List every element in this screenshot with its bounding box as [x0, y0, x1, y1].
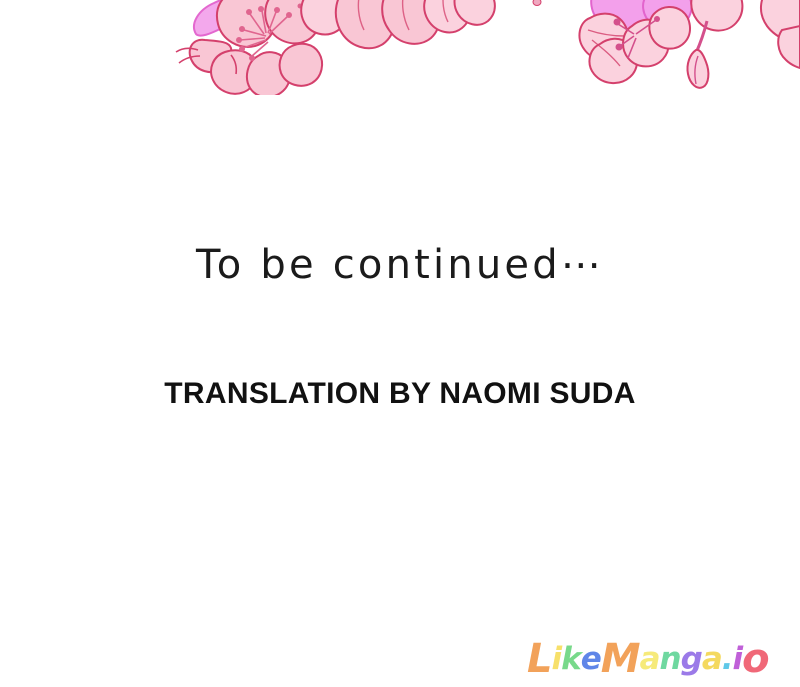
watermark-letter-4: M — [601, 639, 640, 679]
violet-petal-right-a — [591, 0, 658, 31]
watermark-letter-8: a — [702, 639, 722, 679]
watermark-letter-11: o — [742, 639, 768, 679]
petal-c5 — [455, 0, 495, 25]
petal-c4 — [424, 0, 470, 32]
blossom-stamen-tips-left — [236, 4, 303, 62]
watermark-letter-9: . — [722, 639, 733, 679]
bud-tip-crease — [695, 56, 698, 84]
blossom-petal-left-outer — [190, 40, 232, 72]
petal-speck — [533, 0, 541, 6]
watermark-letter-3: e — [581, 639, 601, 679]
blossom-sepal-strokes-left — [176, 48, 236, 74]
cherry-blossom-border-decoration — [0, 0, 800, 95]
cherry-blossom-svg — [0, 0, 800, 95]
watermark-letter-0: L — [527, 639, 552, 679]
petal-far-right-edge-2 — [778, 26, 800, 68]
blossom-stamen-tips-right — [614, 16, 661, 51]
manga-page: To be continued⋯ TRANSLATION BY NAOMI SU… — [0, 0, 800, 687]
blossom-petal-left-lower — [211, 50, 257, 93]
bud-stem-far-right — [696, 21, 707, 53]
watermark-letter-7: g — [681, 639, 702, 679]
petal-c3 — [382, 0, 439, 44]
petal-c2 — [336, 0, 395, 48]
to-be-continued-text: To be continued⋯ — [0, 241, 800, 289]
watermark-letter-10: i — [733, 639, 743, 679]
blossom-petal-top — [217, 0, 276, 47]
blossom-stamens-left — [240, 11, 288, 56]
translation-credit-text: TRANSLATION BY NAOMI SUDA — [0, 376, 800, 412]
blossom-petal-right-left — [579, 14, 628, 60]
violet-petal-right-b — [643, 0, 691, 29]
bud-head-far-right — [691, 0, 742, 31]
blossom-petal-right-lower — [280, 44, 322, 86]
petal-far-right-edge — [761, 0, 800, 45]
blossom-petal-right-upper — [649, 7, 690, 49]
bud-tip-far-right — [687, 50, 708, 88]
likemanga-watermark-logo: LikeManga.io — [527, 636, 769, 682]
watermark-letter-2: k — [561, 639, 581, 679]
violet-petal-left — [194, 0, 258, 36]
watermark-letter-6: n — [660, 639, 681, 679]
watermark-letter-5: a — [640, 639, 660, 679]
petal-crease-strokes-right — [588, 30, 624, 66]
petal-crease-strokes-center — [358, 0, 448, 30]
blossom-petal-top-right — [265, 0, 319, 43]
blossom-petal-center-lower — [247, 52, 290, 95]
blossom-petal-right-bottom — [589, 39, 637, 83]
blossom-stamens-right — [618, 20, 656, 58]
petal-c1 — [301, 0, 346, 34]
blossom-petal-right-right — [623, 20, 669, 67]
watermark-letter-1: i — [552, 639, 562, 679]
